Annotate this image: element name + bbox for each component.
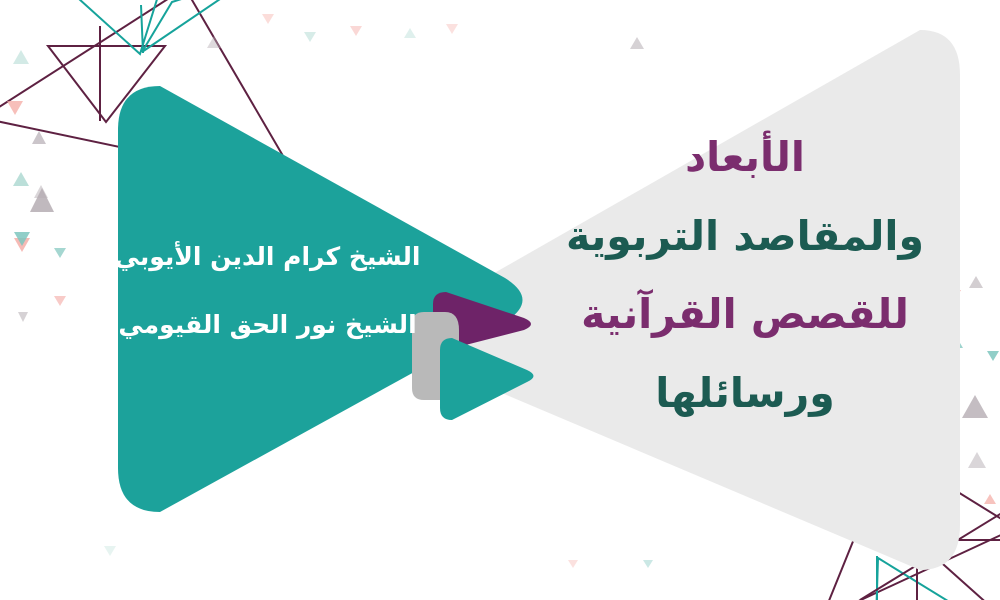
- title-line-2: والمقاصد التربوية: [545, 197, 945, 276]
- slide-canvas: الأبعاد والمقاصد التربوية للقصص القرآنية…: [0, 0, 1000, 600]
- author-spacer: [95, 274, 440, 308]
- author-line-1: الشيخ كرام الدين الأيوبي: [95, 240, 440, 274]
- text-layer: الأبعاد والمقاصد التربوية للقصص القرآنية…: [0, 0, 1000, 600]
- title-line-3: للقصص القرآنية: [545, 275, 945, 354]
- title-line-4: ورسائلها: [545, 354, 945, 433]
- title-line-1: الأبعاد: [545, 118, 945, 197]
- author-line-2: الشيخ نور الحق القيومي: [95, 308, 440, 342]
- author-names: الشيخ كرام الدين الأيوبي الشيخ نور الحق …: [95, 240, 440, 341]
- book-title: الأبعاد والمقاصد التربوية للقصص القرآنية…: [545, 118, 945, 433]
